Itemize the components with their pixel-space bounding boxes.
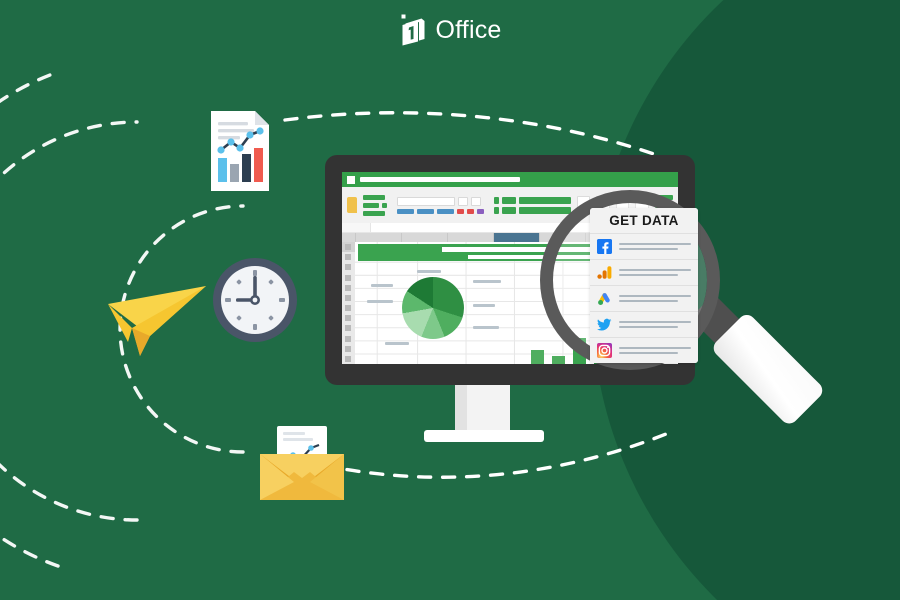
row-text-placeholder	[619, 243, 691, 250]
pie-label	[417, 270, 441, 273]
row-header[interactable]	[342, 303, 355, 313]
monitor-neck	[455, 385, 510, 433]
pie-label	[473, 326, 499, 329]
get-data-title: GET DATA	[590, 208, 698, 233]
spreadsheet-titlebar	[342, 172, 678, 187]
illustration-canvas: Office	[0, 0, 900, 600]
row-header[interactable]	[342, 283, 355, 293]
get-data-row-twitter[interactable]	[590, 311, 698, 337]
row-header[interactable]	[342, 344, 355, 354]
get-data-row-instagram[interactable]	[590, 337, 698, 363]
column-header-selected[interactable]	[494, 233, 540, 242]
clock-icon	[211, 256, 299, 344]
column-header[interactable]	[342, 233, 356, 242]
email-envelope-icon	[258, 424, 346, 502]
report-document-icon	[209, 110, 271, 192]
column-header[interactable]	[356, 233, 402, 242]
row-header[interactable]	[342, 262, 355, 272]
row-header[interactable]	[342, 273, 355, 283]
format-painter-icon[interactable]	[347, 197, 357, 213]
row-header[interactable]	[342, 334, 355, 344]
font-group	[363, 195, 387, 216]
area-chart	[377, 362, 512, 364]
instagram-icon	[597, 343, 612, 358]
column-header[interactable]	[402, 233, 448, 242]
app-icon	[347, 176, 355, 184]
get-data-row-google-ads[interactable]	[590, 285, 698, 311]
row-text-placeholder	[619, 295, 691, 302]
column-header[interactable]	[448, 233, 494, 242]
row-text-placeholder	[619, 269, 691, 276]
row-header[interactable]	[342, 323, 355, 333]
pie-label	[371, 284, 393, 287]
pie-label	[473, 304, 495, 307]
pie-label	[473, 280, 501, 283]
dashed-arc-1	[0, 72, 58, 566]
facebook-icon	[597, 239, 612, 254]
monitor-base	[424, 430, 544, 442]
alignment-group	[397, 197, 484, 214]
row-header[interactable]	[342, 252, 355, 262]
row-header[interactable]	[342, 354, 355, 364]
twitter-icon	[597, 317, 612, 332]
google-analytics-icon	[597, 265, 612, 280]
title-placeholder	[360, 177, 520, 182]
row-header[interactable]	[342, 313, 355, 323]
row-text-placeholder	[619, 347, 691, 354]
pie-label	[367, 300, 393, 303]
name-box[interactable]	[342, 223, 371, 232]
row-header[interactable]	[342, 293, 355, 303]
get-data-panel: GET DATA	[590, 208, 698, 363]
magnifying-glass: GET DATA	[540, 190, 740, 390]
row-text-placeholder	[619, 321, 691, 328]
get-data-row-google-analytics[interactable]	[590, 259, 698, 285]
pie-label	[385, 342, 409, 345]
get-data-row-facebook[interactable]	[590, 233, 698, 259]
pie-chart	[402, 277, 464, 339]
google-ads-icon	[597, 291, 612, 306]
paper-plane-icon	[106, 282, 210, 360]
row-headers	[342, 242, 355, 364]
row-header[interactable]	[342, 242, 355, 252]
